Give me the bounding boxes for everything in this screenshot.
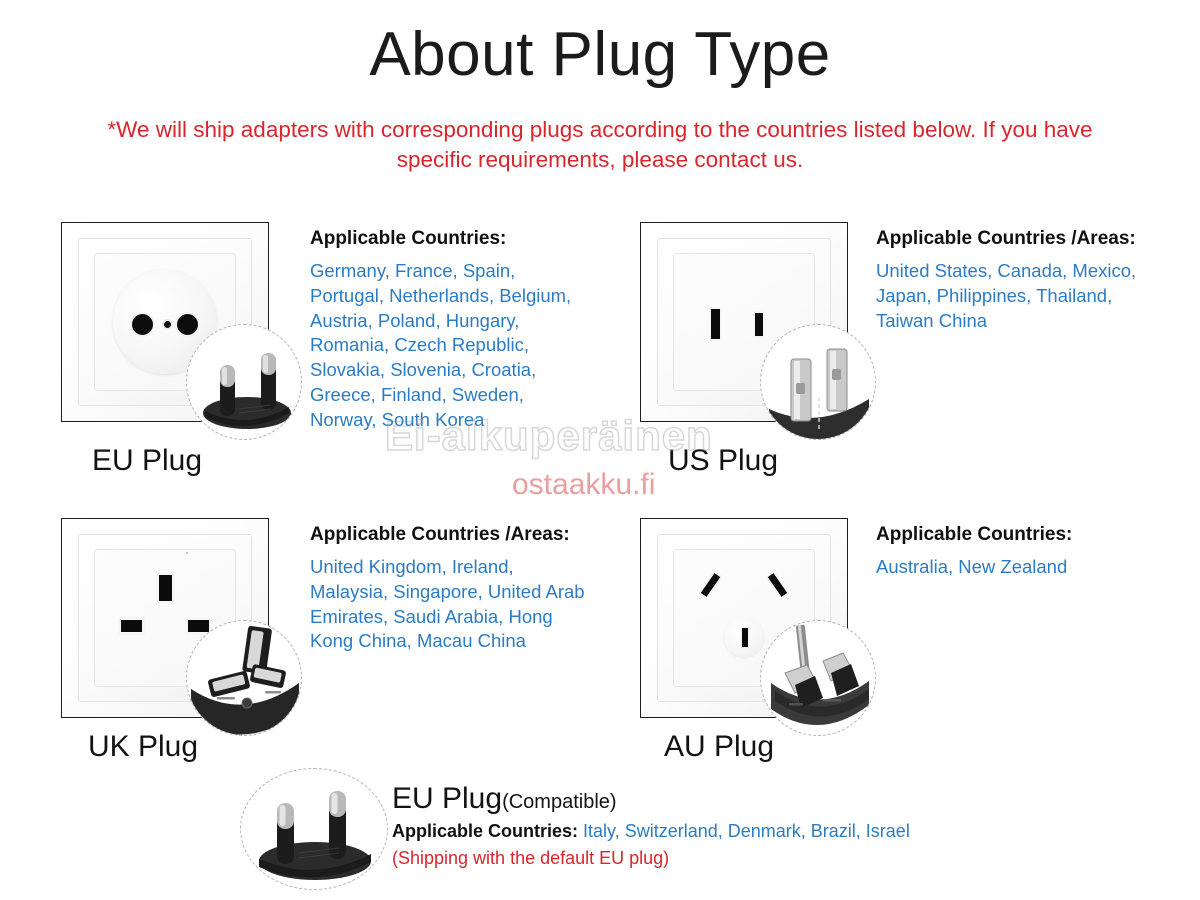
countries-list-au: Australia, New Zealand (876, 555, 1161, 580)
eu-earth-pin (162, 319, 173, 330)
us-plug-blades-icon (761, 325, 875, 439)
us-plug-inset-circle (760, 324, 876, 440)
eu-pin-hole-right (175, 312, 200, 337)
uk-slot-live (118, 617, 145, 635)
countries-heading-au: Applicable Countries: (876, 524, 1166, 546)
countries-list-eu: Germany, France, Spain, Portugal, Nether… (310, 259, 575, 432)
watermark-site-text: ostaakku.fi (512, 468, 655, 502)
country-block-us: Applicable Countries /Areas: United Stat… (876, 228, 1166, 333)
compatible-countries-values: Italy, Switzerland, Denmark, Brazil, Isr… (583, 821, 910, 841)
plug-label-au: AU Plug (664, 730, 774, 764)
country-block-uk: Applicable Countries /Areas: United King… (310, 524, 600, 654)
eu-plug-prongs-icon (187, 325, 301, 439)
au-plug-pins-icon (761, 621, 875, 735)
countries-list-uk: United Kingdom, Ireland, Malaysia, Singa… (310, 555, 585, 654)
plug-label-us: US Plug (668, 444, 778, 478)
eu-plug-inset-circle (186, 324, 302, 440)
au-slot-earth (740, 626, 750, 649)
country-block-au: Applicable Countries: Australia, New Zea… (876, 524, 1166, 580)
eu-pin-hole-left (130, 312, 155, 337)
uk-plug-inset-circle (186, 620, 302, 736)
compatible-plug-title-main: EU Plug (392, 782, 502, 815)
eu-plug-prongs-icon (241, 769, 387, 889)
us-slot-live (753, 311, 765, 338)
countries-list-us: United States, Canada, Mexico, Japan, Ph… (876, 259, 1161, 333)
au-plug-inset-circle (760, 620, 876, 736)
plug-label-uk: UK Plug (88, 730, 198, 764)
country-block-eu: Applicable Countries: Germany, France, S… (310, 228, 580, 432)
compatible-shipping-note: (Shipping with the default EU plug) (392, 848, 669, 869)
au-slot-neutral (765, 570, 790, 599)
compatible-plug-title: EU Plug(Compatible) (392, 782, 617, 816)
plug-label-eu: EU Plug (92, 444, 202, 478)
uk-slot-earth (156, 572, 175, 604)
compatible-eu-plug-inset-circle (240, 768, 388, 890)
eu-plug-prongs-icon (186, 552, 188, 554)
compatible-countries-line: Applicable Countries: Italy, Switzerland… (392, 821, 910, 842)
page-title: About Plug Type (0, 22, 1200, 87)
page-subtitle-note: *We will ship adapters with correspondin… (75, 115, 1125, 175)
countries-heading-eu: Applicable Countries: (310, 228, 580, 250)
au-slot-active (698, 570, 723, 599)
au-earth-recess (724, 617, 764, 657)
uk-plug-pins-icon (187, 621, 301, 735)
compatible-countries-label: Applicable Countries: (392, 821, 578, 841)
countries-heading-us: Applicable Countries /Areas: (876, 228, 1166, 250)
countries-heading-uk: Applicable Countries /Areas: (310, 524, 600, 546)
compatible-plug-title-suffix: (Compatible) (502, 791, 616, 813)
us-slot-neutral (709, 307, 722, 341)
